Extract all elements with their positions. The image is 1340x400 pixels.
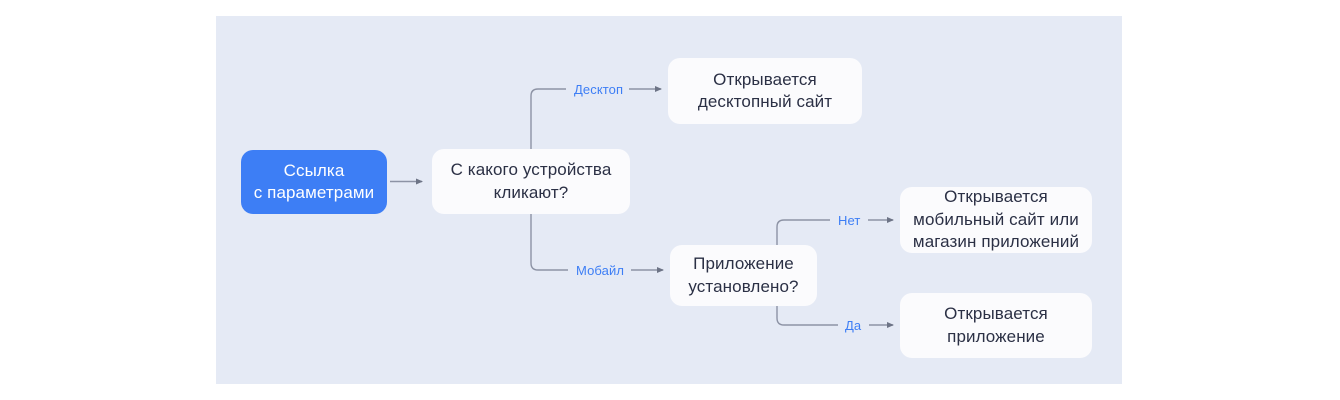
edge-label-yes: Да [845, 318, 861, 333]
node-app-line-1: Открывается [944, 304, 1048, 323]
node-mobilesite-line-3: магазин приложений [913, 232, 1079, 251]
node-which-device-question[interactable]: С какого устройства кликают? [432, 149, 630, 214]
diagram-canvas: Ссылка с параметрами С какого устройства… [0, 0, 1340, 400]
node-mobilesite-line-1: Открывается [944, 187, 1048, 206]
node-installed-line-1: Приложение [693, 254, 794, 273]
node-device-line-1: С какого устройства [451, 160, 612, 179]
node-app-installed-question[interactable]: Приложение установлено? [670, 245, 817, 306]
node-app-opens[interactable]: Открывается приложение [900, 293, 1092, 358]
node-link-line-2: с параметрами [254, 183, 375, 202]
node-app-line-2: приложение [947, 327, 1045, 346]
node-mobilesite-line-2: мобильный сайт или [913, 210, 1079, 229]
node-desktop-site-opens[interactable]: Открывается десктопный сайт [668, 58, 862, 124]
node-device-line-2: кликают? [494, 183, 569, 202]
node-mobile-site-or-store-opens[interactable]: Открывается мобильный сайт или магазин п… [900, 187, 1092, 253]
node-installed-line-2: установлено? [688, 277, 798, 296]
edge-label-no: Нет [838, 213, 860, 228]
node-desktop-line-1: Открывается [713, 70, 817, 89]
node-link-line-1: Ссылка [284, 161, 345, 180]
node-link-with-parameters[interactable]: Ссылка с параметрами [241, 150, 387, 214]
node-desktop-line-2: десктопный сайт [698, 92, 832, 111]
edge-label-desktop: Десктоп [574, 82, 623, 97]
edge-label-mobile: Мобайл [576, 263, 624, 278]
